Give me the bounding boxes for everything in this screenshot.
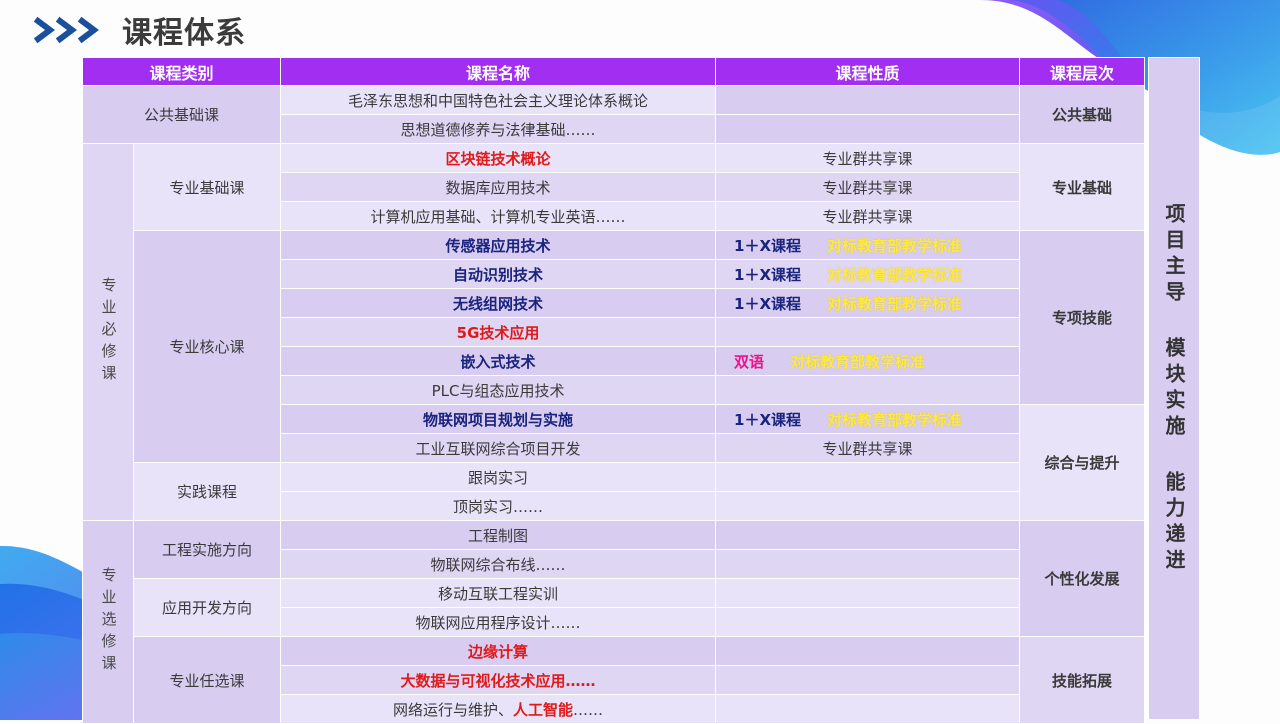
category-major-core: 专业核心课	[134, 231, 281, 463]
course-edge-computing: 边缘计算	[468, 643, 528, 661]
course-sensor: 传感器应用技术	[446, 237, 551, 255]
property-one-plus-x: 1＋X课程	[734, 293, 801, 314]
property-empty	[716, 637, 1020, 666]
table-row: 专业任选课 边缘计算 技能拓展	[83, 637, 1145, 666]
property-moe-standard: 对标教育部教学标准	[827, 293, 962, 314]
course-bigdata: 大数据与可视化技术应用	[401, 672, 566, 690]
table-row: 公共基础课 毛泽东思想和中国特色社会主义理论体系概论 公共基础	[83, 86, 1145, 115]
category-eng-direction: 工程实施方向	[134, 521, 281, 579]
course-network-ops-prefix: 网络运行与维护、	[393, 701, 513, 719]
table-row: 专业选修课 工程实施方向 工程制图 个性化发展	[83, 521, 1145, 550]
property-empty	[716, 608, 1020, 637]
page-title-text: 课程体系	[122, 8, 246, 52]
property-empty	[716, 666, 1020, 695]
category-major-required: 专业必修课	[83, 144, 134, 521]
header-property: 课程性质	[716, 58, 1020, 86]
tier-special-skill: 专项技能	[1020, 231, 1145, 405]
table-row: 实践课程 跟岗实习	[83, 463, 1145, 492]
course-bigdata-ellipsis: ……	[566, 672, 596, 690]
course-follow-intern: 跟岗实习	[468, 469, 528, 487]
property-shared: 专业群共享课	[823, 440, 913, 458]
property-moe-standard: 对标教育部教学标准	[827, 235, 962, 256]
property-empty	[716, 492, 1020, 521]
course-iot-project: 物联网项目规划与实施	[423, 411, 573, 429]
course-network-ops-ellipsis: ……	[573, 701, 603, 719]
property-one-plus-x: 1＋X课程	[734, 264, 801, 285]
header-category: 课程类别	[83, 58, 281, 86]
course-auto-id: 自动识别技术	[453, 266, 543, 284]
course-computer-basic: 计算机应用基础、计算机专业英语……	[371, 208, 626, 226]
property-shared: 专业群共享课	[823, 150, 913, 168]
tier-personalized: 个性化发展	[1020, 521, 1145, 637]
property-empty	[716, 376, 1020, 405]
tier-public-basic: 公共基础	[1020, 86, 1145, 144]
course-database: 数据库应用技术	[446, 179, 551, 197]
property-empty	[716, 463, 1020, 492]
right-rail-text: 项目主导 模块实施 能力递进	[1164, 203, 1184, 575]
property-empty	[716, 318, 1020, 347]
property-moe-standard: 对标教育部教学标准	[827, 409, 962, 430]
property-empty	[716, 579, 1020, 608]
category-app-direction: 应用开发方向	[134, 579, 281, 637]
course-mobile-train: 移动互联工程实训	[438, 585, 558, 603]
tier-skill-extend: 技能拓展	[1020, 637, 1145, 724]
course-iot-cabling: 物联网综合布线……	[431, 556, 566, 574]
category-major-elective: 专业选修课	[83, 521, 134, 724]
triple-chevron-icon	[34, 16, 108, 44]
property-moe-standard: 对标教育部教学标准	[790, 351, 925, 372]
category-major-basic: 专业基础课	[134, 144, 281, 231]
property-bilingual: 双语	[734, 351, 764, 372]
course-network-ops-highlight: 人工智能	[513, 701, 573, 719]
table-header-row: 课程类别 课程名称 课程性质 课程层次	[83, 58, 1145, 86]
property-empty	[716, 695, 1020, 724]
property-shared: 专业群共享课	[823, 208, 913, 226]
property-empty	[716, 115, 1020, 144]
header-tier: 课程层次	[1020, 58, 1145, 86]
right-rail: 项目主导 模块实施 能力递进	[1148, 57, 1200, 720]
property-empty	[716, 550, 1020, 579]
course-plc: PLC与组态应用技术	[432, 382, 565, 400]
tier-integrate: 综合与提升	[1020, 405, 1145, 521]
course-wireless: 无线组网技术	[453, 295, 543, 313]
property-shared: 专业群共享课	[823, 179, 913, 197]
curriculum-table: 课程类别 课程名称 课程性质 课程层次 公共基础课 毛泽东思想和中国特色社会主义…	[82, 57, 1145, 724]
page-title: 课程体系	[34, 8, 246, 52]
category-practice: 实践课程	[134, 463, 281, 521]
course-iot-app: 物联网应用程序设计……	[416, 614, 581, 632]
category-free-elective: 专业任选课	[134, 637, 281, 724]
property-empty	[716, 86, 1020, 115]
property-one-plus-x: 1＋X课程	[734, 409, 801, 430]
course-blockchain: 区块链技术概论	[446, 150, 551, 168]
course-eng-drawing: 工程制图	[468, 527, 528, 545]
table-row: 专业必修课 专业基础课 区块链技术概论 专业群共享课 专业基础	[83, 144, 1145, 173]
course-industrial-iot: 工业互联网综合项目开发	[416, 440, 581, 458]
table-row: 应用开发方向 移动互联工程实训	[83, 579, 1145, 608]
property-empty	[716, 521, 1020, 550]
category-public-basic: 公共基础课	[83, 86, 281, 144]
property-one-plus-x: 1＋X课程	[734, 235, 801, 256]
course-embedded: 嵌入式技术	[461, 353, 536, 371]
property-moe-standard: 对标教育部教学标准	[827, 264, 962, 285]
course-5g: 5G技术应用	[457, 324, 540, 342]
course-top-intern: 顶岗实习……	[453, 498, 543, 516]
table-row: 专业核心课 传感器应用技术 1＋X课程 对标教育部教学标准 专项技能	[83, 231, 1145, 260]
header-name: 课程名称	[281, 58, 716, 86]
tier-major-basic: 专业基础	[1020, 144, 1145, 231]
course-mao: 毛泽东思想和中国特色社会主义理论体系概论	[348, 92, 648, 110]
course-ethics: 思想道德修养与法律基础……	[401, 121, 596, 139]
